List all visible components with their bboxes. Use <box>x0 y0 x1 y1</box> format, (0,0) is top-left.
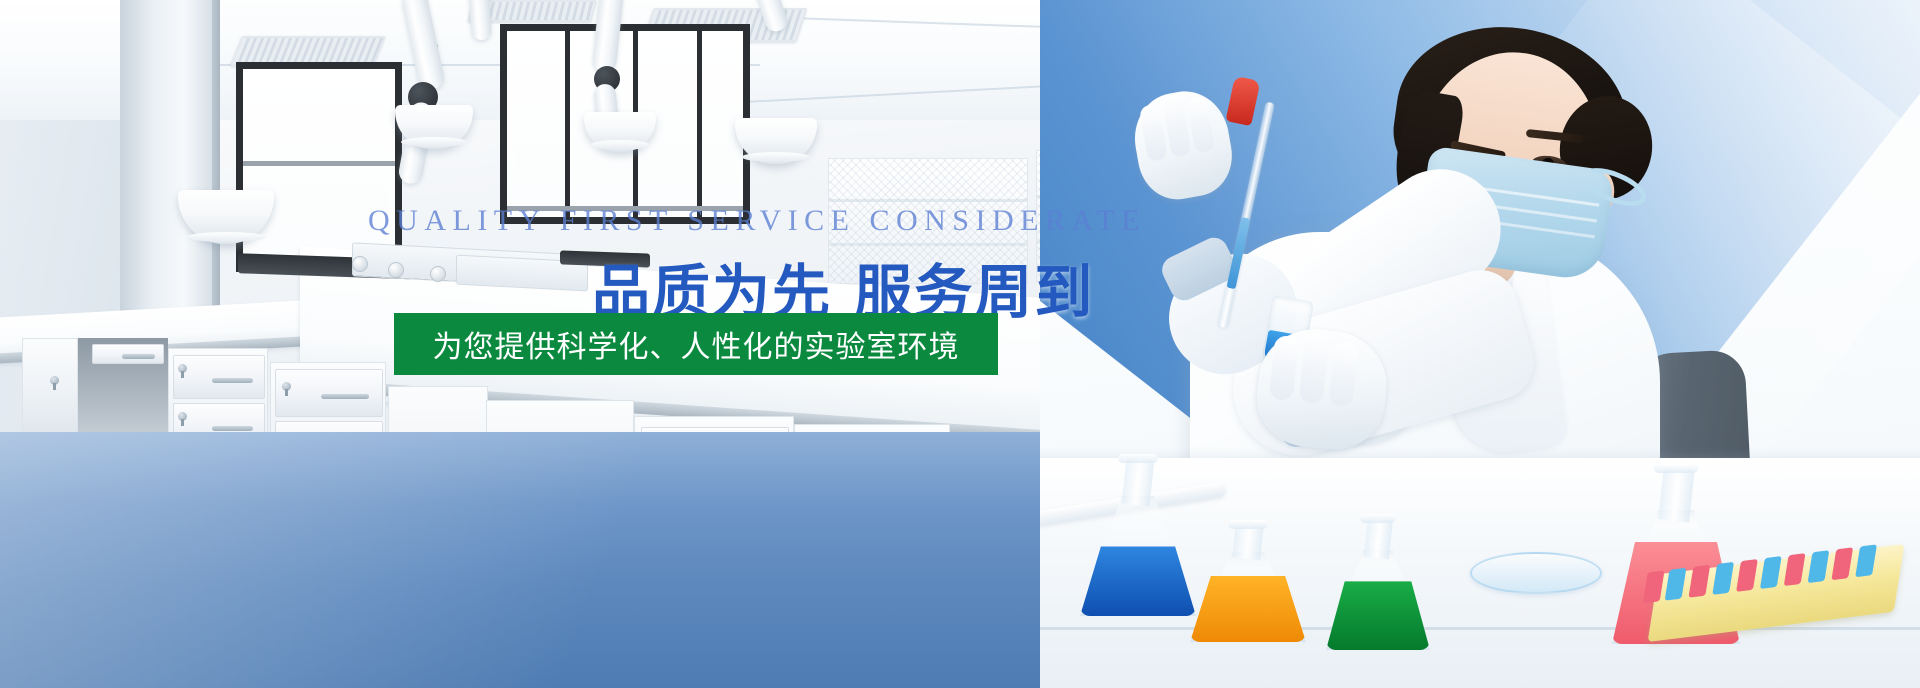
banner-text-layer: QUALITY FIRST SERVICE CONSIDERATE 品质为先 服… <box>0 0 1920 688</box>
banner-subtitle-bar: 为您提供科学化、人性化的实验室环境 <box>394 313 998 375</box>
banner-subtitle-text: 为您提供科学化、人性化的实验室环境 <box>433 322 960 366</box>
banner-eyebrow-text: QUALITY FIRST SERVICE CONSIDERATE <box>368 204 1146 238</box>
hero-banner: QUALITY FIRST SERVICE CONSIDERATE 品质为先 服… <box>0 0 1920 688</box>
